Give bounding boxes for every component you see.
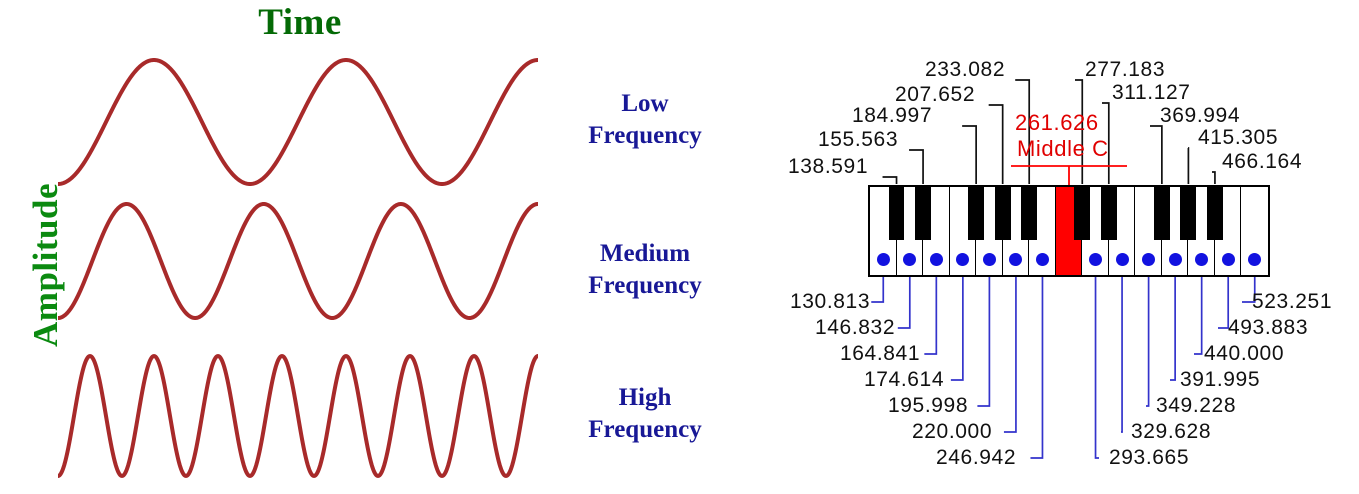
illustration-root: Time Amplitude Low Frequency Medium Freq… <box>0 0 1359 494</box>
middle-c-frequency-label: 261.626 <box>1015 110 1099 136</box>
legend-high-frequency-line1: High <box>530 382 760 414</box>
waveform-panel: Time Amplitude Low Frequency Medium Freq… <box>0 0 760 494</box>
black-key-label-207.652: 207.652 <box>895 83 975 107</box>
black-key-155.563[interactable] <box>915 187 931 240</box>
waveform-medium-frequency <box>58 196 538 326</box>
black-key-415.305[interactable] <box>1180 187 1196 240</box>
black-key-label-184.997: 184.997 <box>852 104 932 128</box>
white-key-label-174.614: 174.614 <box>864 368 944 392</box>
legend-high-frequency: High Frequency <box>530 382 760 446</box>
key-marker-dot <box>1222 253 1235 266</box>
white-key-label-130.813: 130.813 <box>790 290 870 314</box>
white-key-label-329.628: 329.628 <box>1131 420 1211 444</box>
legend-low-frequency: Low Frequency <box>530 88 760 152</box>
white-key-label-246.942: 246.942 <box>936 446 1016 470</box>
legend-medium-frequency-line1: Medium <box>530 238 760 270</box>
black-key-466.164[interactable] <box>1207 187 1223 240</box>
key-marker-dot <box>1169 253 1182 266</box>
black-key-label-155.563: 155.563 <box>818 128 898 152</box>
black-key-184.997[interactable] <box>968 187 984 240</box>
middle-c-name-label: Middle C <box>1017 136 1109 162</box>
black-key-label-415.305: 415.305 <box>1198 126 1278 150</box>
key-marker-dot <box>930 253 943 266</box>
key-marker-dot <box>983 253 996 266</box>
legend-medium-frequency: Medium Frequency <box>530 238 760 302</box>
white-key-label-220.000: 220.000 <box>912 420 992 444</box>
white-key-label-523.251: 523.251 <box>1252 290 1332 314</box>
key-marker-dot <box>1036 253 1049 266</box>
black-key-233.082[interactable] <box>1021 187 1037 240</box>
black-key-label-277.183: 277.183 <box>1085 58 1165 82</box>
white-key-label-164.841: 164.841 <box>840 342 920 366</box>
legend-low-frequency-line2: Frequency <box>530 120 760 152</box>
piano-diagram: 138.591155.563184.997207.652233.082277.1… <box>760 0 1359 494</box>
legend-low-frequency-line1: Low <box>530 88 760 120</box>
key-marker-dot <box>877 253 890 266</box>
black-key-277.183[interactable] <box>1074 187 1090 240</box>
black-key-311.127[interactable] <box>1101 187 1117 240</box>
black-key-207.652[interactable] <box>995 187 1011 240</box>
white-key-label-349.228: 349.228 <box>1156 394 1236 418</box>
black-key-138.591[interactable] <box>889 187 905 240</box>
white-key-label-146.832: 146.832 <box>815 316 895 340</box>
white-key-label-293.665: 293.665 <box>1109 446 1189 470</box>
black-key-label-466.164: 466.164 <box>1222 150 1302 174</box>
legend-high-frequency-line2: Frequency <box>530 414 760 446</box>
key-marker-dot <box>1116 253 1129 266</box>
black-key-label-233.082: 233.082 <box>925 58 1005 82</box>
black-key-label-369.994: 369.994 <box>1160 104 1240 128</box>
piano-panel: 138.591155.563184.997207.652233.082277.1… <box>760 0 1359 494</box>
piano-keyboard[interactable] <box>868 185 1270 277</box>
white-key-label-195.998: 195.998 <box>888 394 968 418</box>
black-key-369.994[interactable] <box>1154 187 1170 240</box>
waveform-high-frequency <box>58 348 538 484</box>
white-key-label-391.995: 391.995 <box>1180 368 1260 392</box>
black-key-label-311.127: 311.127 <box>1112 81 1191 105</box>
legend-medium-frequency-line2: Frequency <box>530 270 760 302</box>
x-axis-title: Time <box>0 1 600 44</box>
key-marker-dot <box>1142 253 1155 266</box>
waveform-low-frequency <box>58 52 538 192</box>
white-key-label-440.000: 440.000 <box>1204 342 1284 366</box>
key-marker-dot <box>1089 253 1102 266</box>
white-key-label-493.883: 493.883 <box>1228 316 1308 340</box>
black-key-label-138.591: 138.591 <box>788 155 868 179</box>
